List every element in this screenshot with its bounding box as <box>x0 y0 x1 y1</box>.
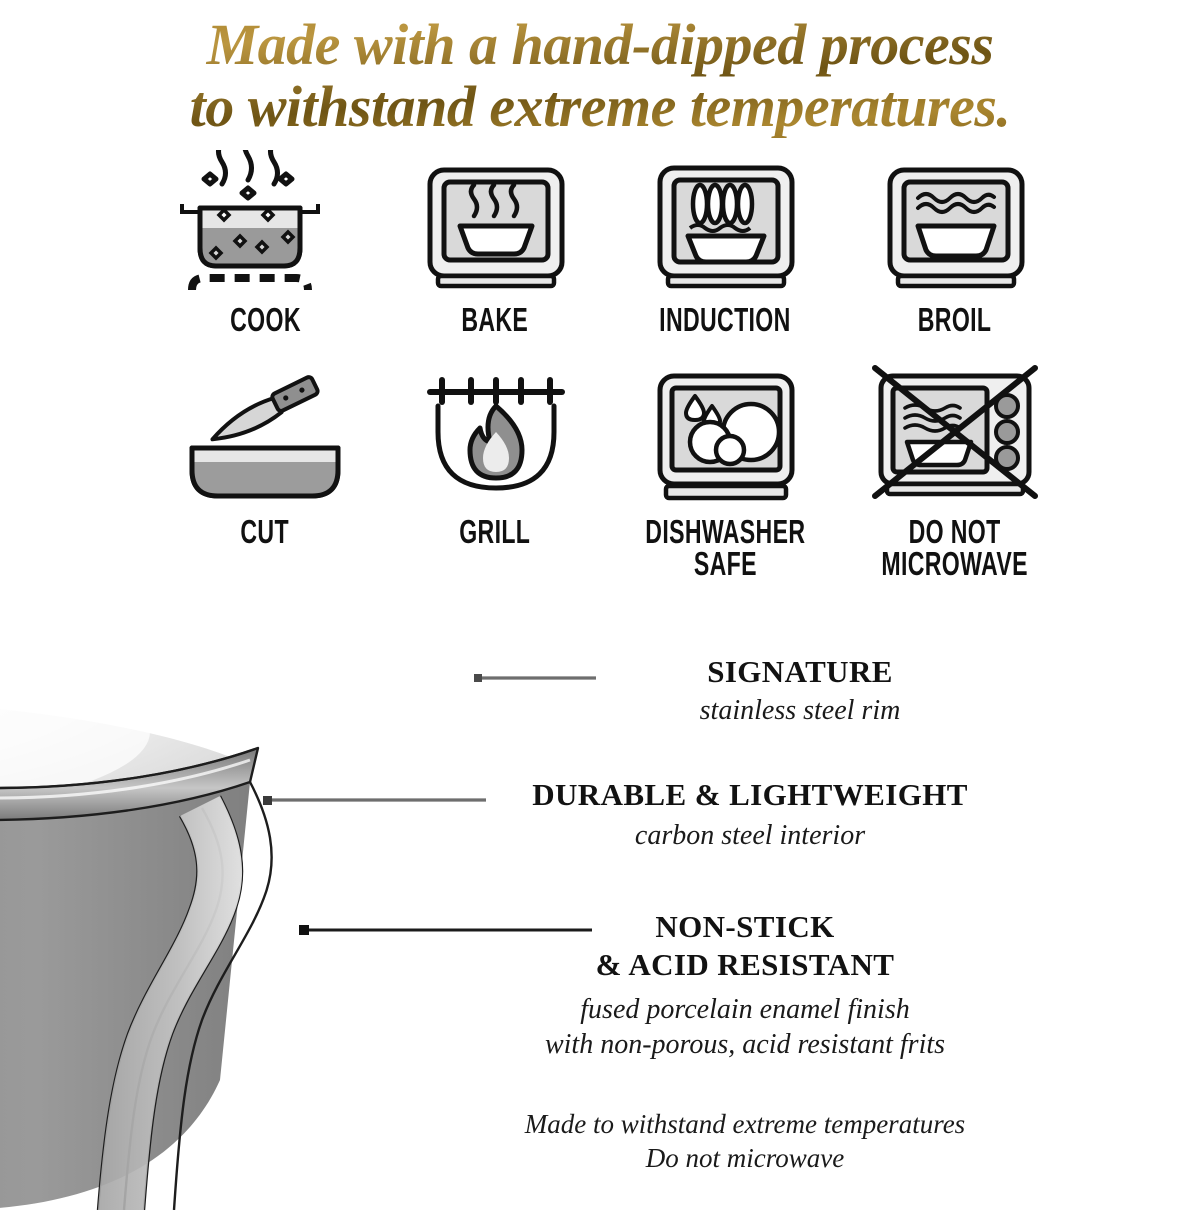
footnote-line-1: Made to withstand extreme temperatures <box>420 1108 1070 1142</box>
pan-illustration <box>0 520 510 1210</box>
callout-nonstick-sub-line-2: with non-porous, acid resistant frits <box>420 1027 1070 1062</box>
page-title: Made with a hand-dipped process to withs… <box>0 14 1200 138</box>
knife-over-pan-icon <box>170 362 360 510</box>
callout-signature-title: SIGNATURE <box>560 655 1040 690</box>
infographic-root: Made with a hand-dipped process to withs… <box>0 0 1200 1200</box>
icon-label-cook: COOK <box>230 304 301 336</box>
footnote: Made to withstand extreme temperatures D… <box>420 1108 1070 1176</box>
callout-durable-lightweight: DURABLE & LIGHTWEIGHT carbon steel inter… <box>440 778 1060 852</box>
microwave-crossed-out-icon <box>865 362 1045 510</box>
icon-label-induction: INDUCTION <box>659 304 790 336</box>
headline-line-1: Made with a hand-dipped process <box>207 12 994 77</box>
icon-label-do-not-microwave: DO NOT MICROWAVE <box>882 516 1028 579</box>
icon-cell-induction: INDUCTION <box>610 150 840 336</box>
icon-label-bake: BAKE <box>462 304 529 336</box>
feature-icon-grid: COOK BAKE <box>150 150 1070 570</box>
icon-cell-cook: COOK <box>150 150 380 336</box>
icon-cell-do-not-microwave: DO NOT MICROWAVE <box>840 362 1070 579</box>
callout-nonstick-title-line-2: & ACID RESISTANT <box>420 946 1070 984</box>
callout-signature: SIGNATURE stainless steel rim <box>560 655 1040 727</box>
pot-with-steam-icon <box>170 150 360 298</box>
icon-label-dishwasher-safe: DISHWASHER SAFE <box>645 516 805 579</box>
callout-durable-title: DURABLE & LIGHTWEIGHT <box>440 778 1060 813</box>
icon-label-broil: BROIL <box>918 304 992 336</box>
grill-grate-flame-icon <box>408 362 583 510</box>
headline-line-2: to withstand extreme temperatures. <box>0 76 1200 138</box>
callout-non-stick-acid-resistant: NON-STICK & ACID RESISTANT fused porcela… <box>420 908 1070 1062</box>
callout-nonstick-title-line-1: NON-STICK <box>420 908 1070 946</box>
icon-cell-dishwasher-safe: DISHWASHER SAFE <box>610 362 840 579</box>
footnote-line-2: Do not microwave <box>420 1142 1070 1176</box>
callout-signature-subtitle: stainless steel rim <box>560 694 1040 728</box>
oven-induction-coil-icon <box>638 150 813 298</box>
icon-cell-broil: BROIL <box>840 150 1070 336</box>
oven-bake-icon <box>408 150 583 298</box>
callout-durable-subtitle: carbon steel interior <box>440 819 1060 853</box>
dishwasher-dishes-icon <box>638 362 813 510</box>
icon-cell-bake: BAKE <box>380 150 610 336</box>
callout-nonstick-sub-line-1: fused porcelain enamel finish <box>420 992 1070 1027</box>
oven-broil-waves-icon <box>868 150 1043 298</box>
